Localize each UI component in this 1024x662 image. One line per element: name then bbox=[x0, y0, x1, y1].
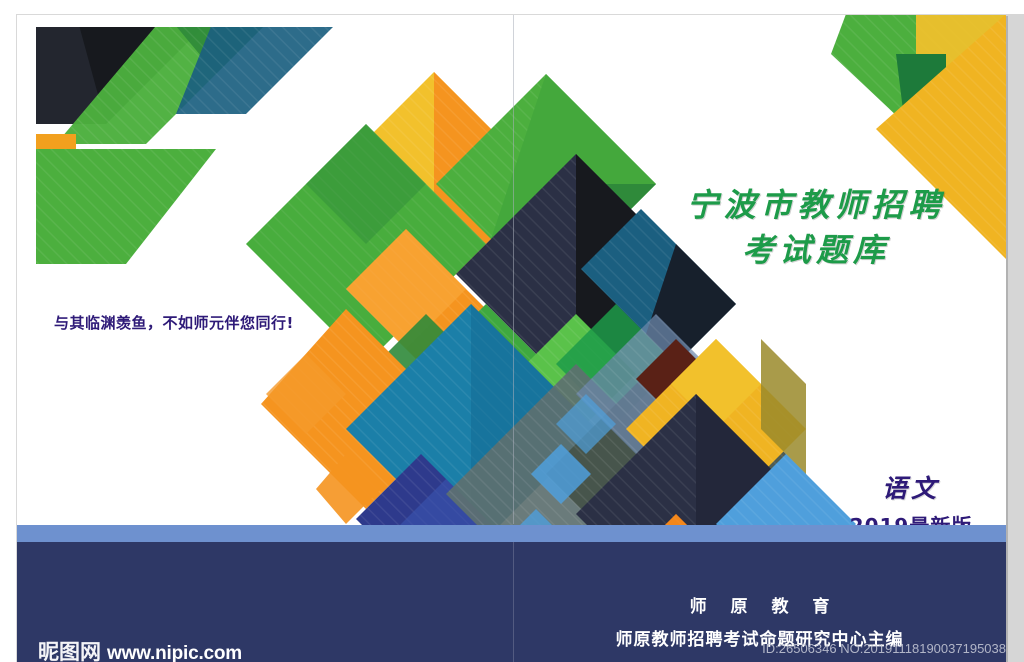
back-cover-tagline: 与其临渊羡鱼，不如师元伴您同行! bbox=[54, 312, 294, 333]
front-cover-title: 宁波市教师招聘 考试题库 bbox=[656, 184, 976, 272]
watermark-site: 昵图网 www.nipic.com bbox=[38, 636, 242, 662]
cover-sheet: 宁波市教师招聘 考试题库 语文 2019最新版 与其临渊羡鱼，不如师元伴您同行!… bbox=[16, 14, 1006, 662]
publisher-name: 师 原 教 育 bbox=[513, 592, 1006, 617]
subject-name: 语文 bbox=[816, 469, 1006, 505]
title-line-2: 考试题库 bbox=[656, 229, 976, 272]
footer-band-light bbox=[16, 525, 1006, 542]
page-edge-shadow bbox=[1006, 14, 1024, 662]
cover-artboard: 宁波市教师招聘 考试题库 语文 2019最新版 与其临渊羡鱼，不如师元伴您同行!… bbox=[0, 0, 1024, 662]
center-fold-line bbox=[513, 14, 514, 524]
title-line-1: 宁波市教师招聘 bbox=[656, 184, 976, 227]
watermark-site-url: www.nipic.com bbox=[107, 643, 242, 662]
watermark-site-logo: 昵图网 bbox=[38, 636, 101, 662]
watermark-asset-id: ID:26506346 NO:20191118190037195038 bbox=[762, 641, 1006, 656]
